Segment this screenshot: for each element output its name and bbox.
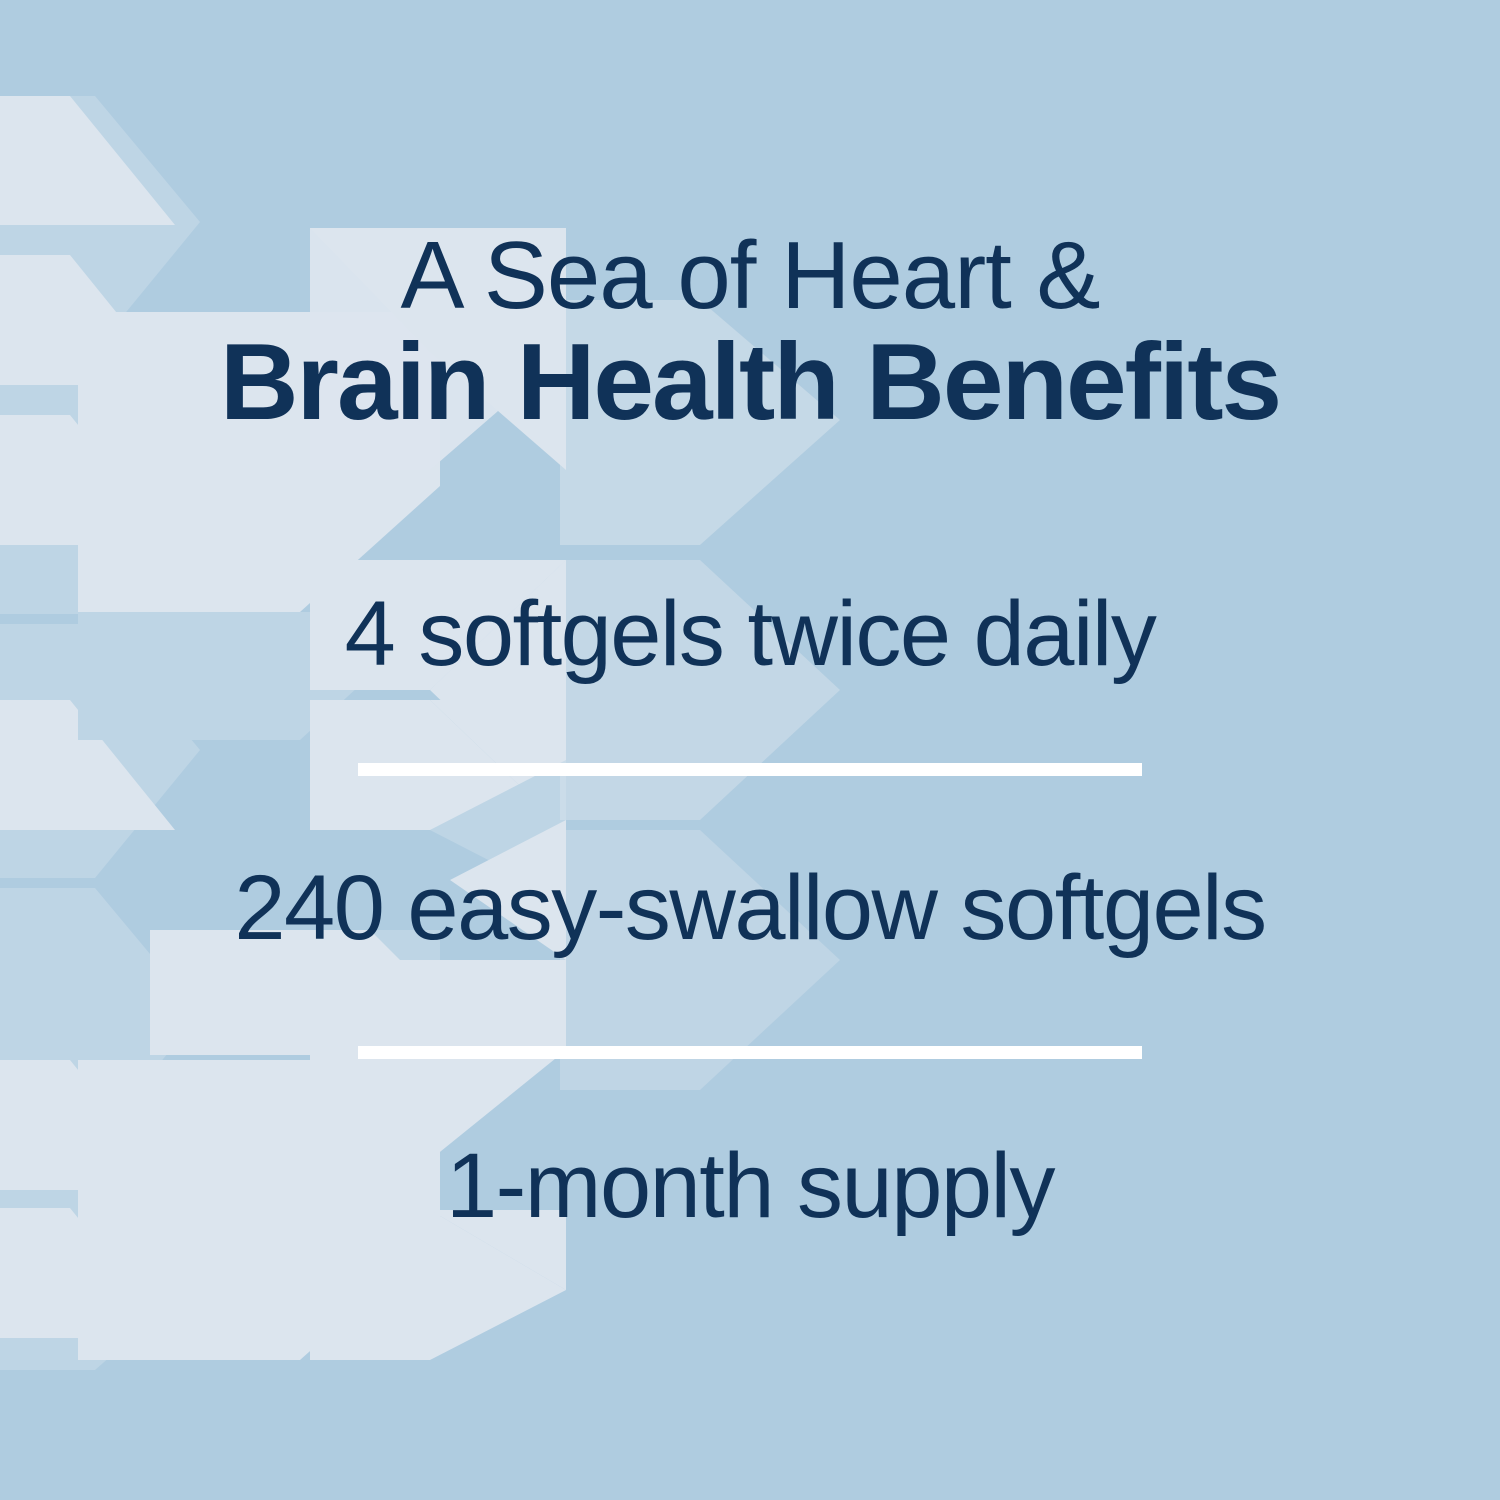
divider-rule-1 — [358, 763, 1142, 776]
headline-line-2: Brain Health Benefits — [0, 324, 1500, 442]
content-layer: A Sea of Heart & Brain Health Benefits 4… — [0, 0, 1500, 1500]
product-infographic-banner: A Sea of Heart & Brain Health Benefits 4… — [0, 0, 1500, 1500]
headline-line-1: A Sea of Heart & — [0, 228, 1500, 324]
headline-block: A Sea of Heart & Brain Health Benefits — [0, 228, 1500, 442]
fact-dosage: 4 softgels twice daily — [0, 588, 1500, 680]
fact-supply: 1-month supply — [0, 1140, 1500, 1232]
divider-rule-2 — [358, 1046, 1142, 1059]
fact-count: 240 easy-swallow softgels — [0, 862, 1500, 954]
